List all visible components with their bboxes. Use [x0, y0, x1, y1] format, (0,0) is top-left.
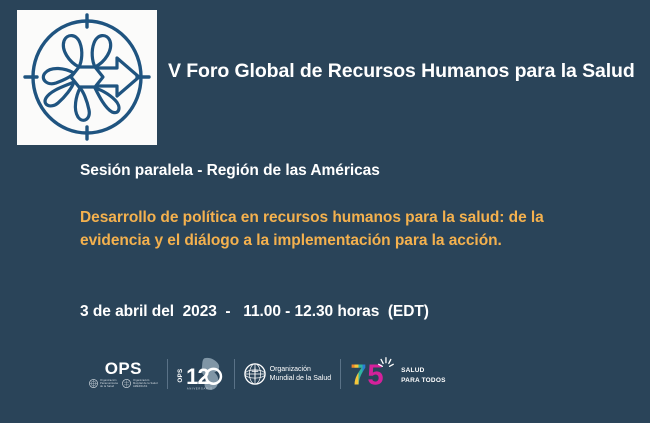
anniv-120-graphic: OPS 12 ANIVERSARIO [177, 356, 225, 392]
ops-paho-logo: OPS Organización Panamericana de la Salu… [80, 352, 167, 396]
anniv-75-tagline: SALUD PARA TODOS [401, 366, 446, 384]
anniv-120-vertical-text: OPS [177, 368, 184, 382]
ops-120-anniversary-logo: OPS 12 ANIVERSARIO [168, 352, 234, 396]
global-health-workforce-network-emblem [17, 10, 157, 145]
ops-wordmark: OPS [105, 360, 142, 377]
anniv-75-digit-seven: 7 [350, 360, 366, 391]
who-oms-text: Organización Mundial de la Salud [270, 365, 332, 383]
session-subtitle: Sesión paralela - Región de las Américas [80, 162, 380, 180]
footer-logo-strip: OPS Organización Panamericana de la Salu… [80, 352, 455, 396]
who-seal-caption: Organización Mundial de la Salud AMÉRICA… [133, 379, 158, 389]
who-emblem-icon [244, 363, 266, 385]
anniv-75-digit-five: 5 [367, 360, 383, 391]
who-seal-icon [122, 379, 131, 388]
who-oms-logo: Organización Mundial de la Salud [235, 352, 341, 396]
emblem-graphic [17, 10, 157, 145]
paho-seal-icon [89, 379, 98, 388]
slide-canvas: V Foro Global de Recursos Humanos para l… [0, 0, 650, 423]
session-datetime: 3 de abril del 2023 - 11.00 - 12.30 hora… [80, 303, 429, 321]
anniv-75-graphic: 7 5 [350, 357, 396, 391]
paho-seal-caption: Organización Panamericana de la Salud [100, 379, 118, 389]
session-theme: Desarrollo de política en recursos human… [80, 207, 580, 253]
anniv-120-caption: ANIVERSARIO [187, 387, 213, 391]
who-75-anniversary-logo: 7 5 SALUD PARA TODOS [341, 352, 455, 396]
event-title: V Foro Global de Recursos Humanos para l… [168, 60, 640, 83]
